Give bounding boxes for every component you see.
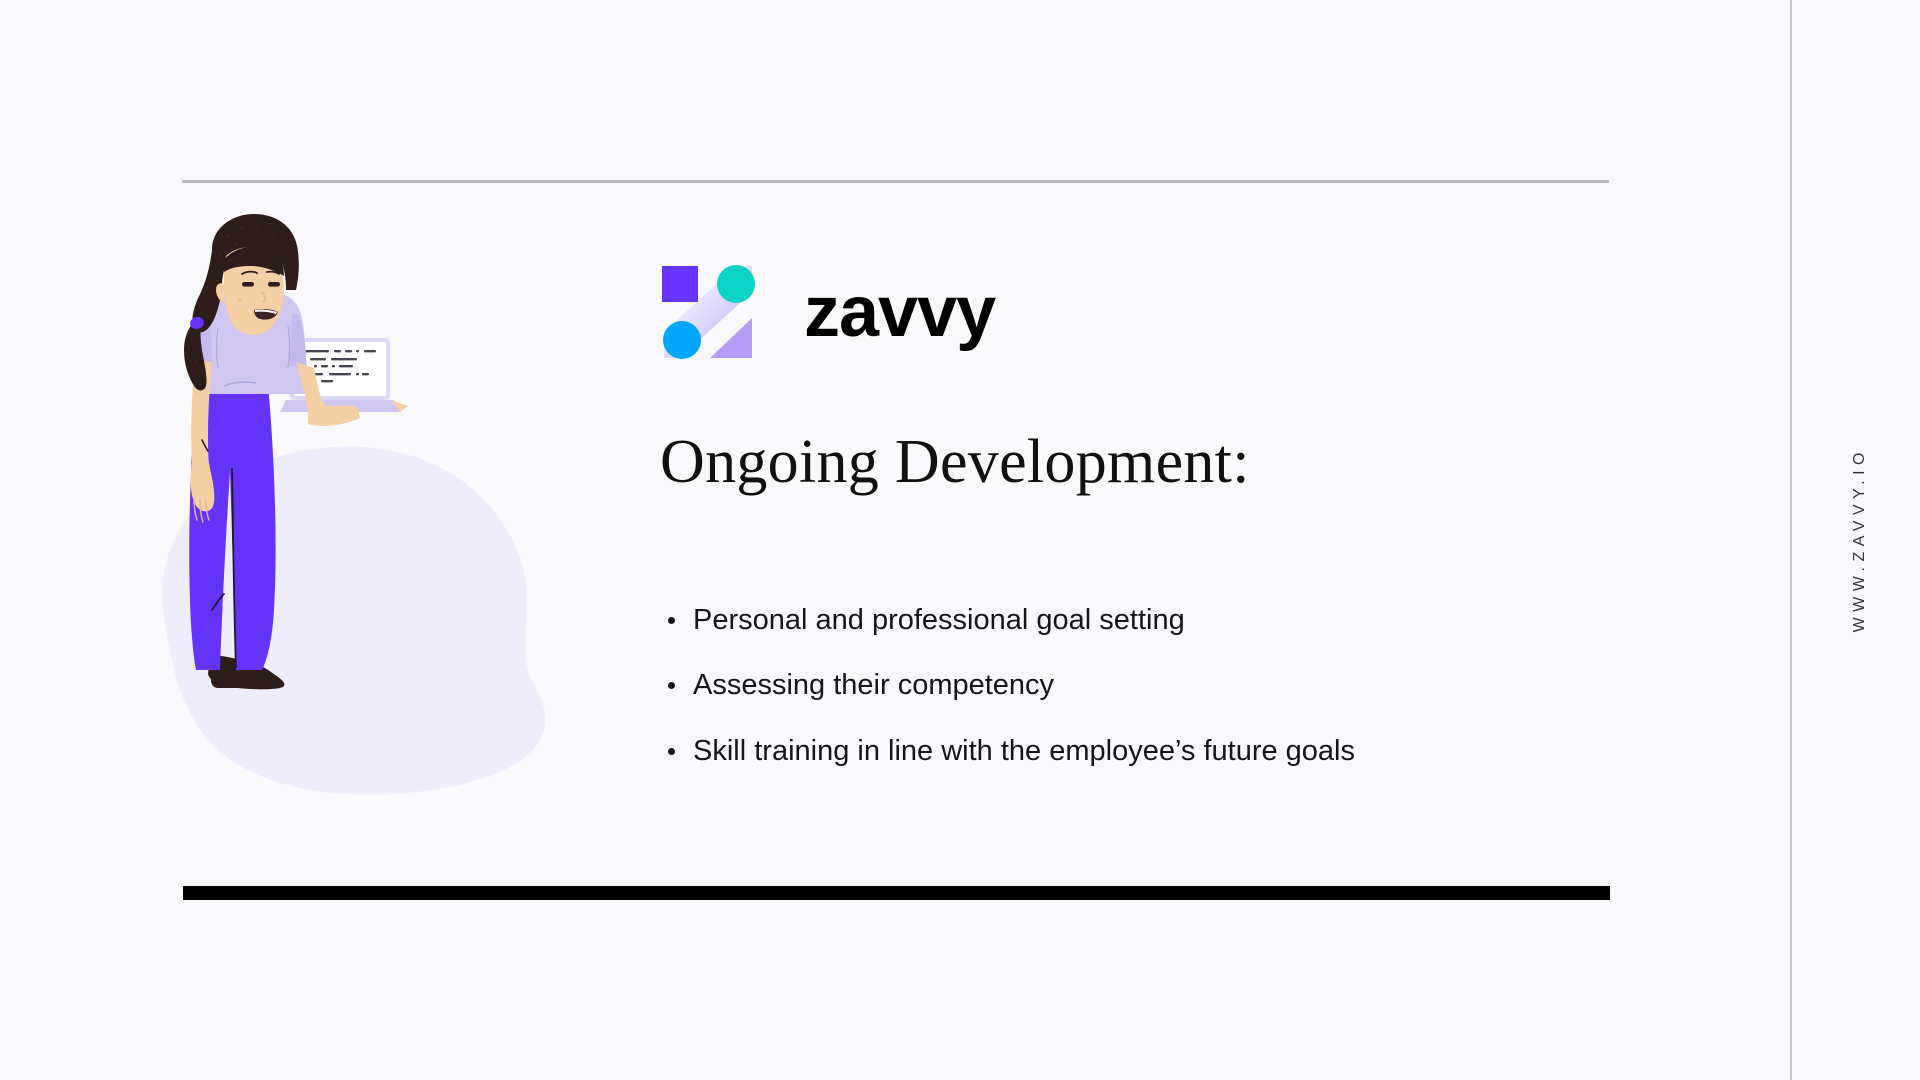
list-item: Assessing their competency xyxy=(660,667,1560,703)
woman-holding-laptop-illustration xyxy=(150,210,590,870)
zavvy-wordmark: zavvy xyxy=(804,276,995,348)
illustration-svg xyxy=(150,210,590,870)
bottom-accent-bar xyxy=(183,886,1610,900)
website-url-text: WWW.ZAVVY.IO xyxy=(1851,447,1869,632)
zavvy-logo-lockup: zavvy xyxy=(660,262,995,362)
zavvy-z-logo-icon xyxy=(660,262,756,362)
right-vertical-divider xyxy=(1790,0,1792,1080)
list-item: Skill training in line with the employee… xyxy=(660,733,1560,769)
list-item: Personal and professional goal setting xyxy=(660,602,1560,638)
bullet-list: Personal and professional goal setting A… xyxy=(660,602,1560,769)
page-title: Ongoing Development: xyxy=(660,428,1250,496)
website-url-rail: WWW.ZAVVY.IO xyxy=(1835,0,1885,1080)
slide-canvas: zavvy Ongoing Development: Personal and … xyxy=(0,0,1920,1080)
top-divider-rule xyxy=(182,180,1609,183)
